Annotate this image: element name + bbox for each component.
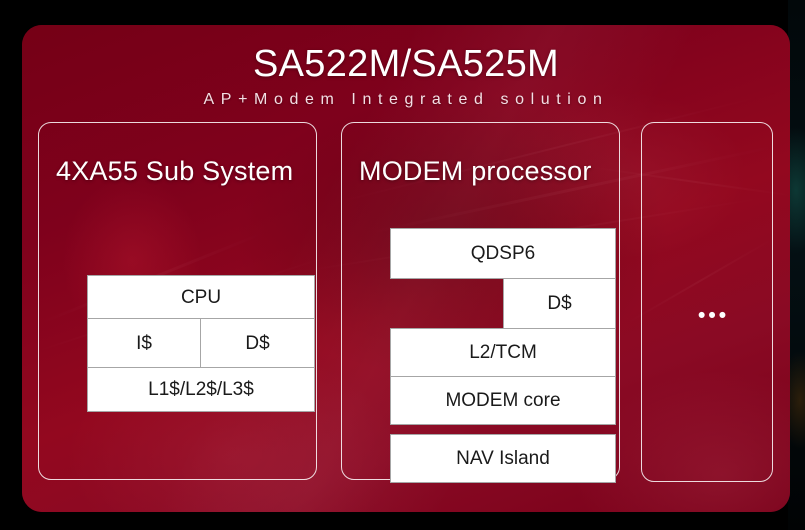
block-i-cache: I$ <box>87 318 201 368</box>
block-modem-empty <box>390 278 503 329</box>
panel-modem-processor: MODEM processor QDSP6 D$ L2/TCM MODEM co… <box>341 122 620 480</box>
panel-modem-processor-title: MODEM processor <box>359 156 592 187</box>
block-cpu: CPU <box>87 275 315 319</box>
screenshot-canvas: SA522M/SA525M AP+Modem Integrated soluti… <box>0 0 805 530</box>
block-d-cache: D$ <box>200 318 315 368</box>
panel-ap-subsystem: 4XA55 Sub System CPU I$ D$ L1$/L2$/L3$ <box>38 122 317 480</box>
panel-ap-subsystem-title: 4XA55 Sub System <box>56 156 293 187</box>
panel-more: ••• <box>641 122 773 482</box>
block-l1-l2-l3-cache: L1$/L2$/L3$ <box>87 367 315 412</box>
block-modem-d-cache: D$ <box>503 278 616 329</box>
block-nav-island: NAV Island <box>390 434 616 483</box>
ellipsis-icon: ••• <box>698 305 729 326</box>
modem-processor-diagram: QDSP6 D$ L2/TCM MODEM core NAV Island <box>390 228 616 484</box>
ap-subsystem-diagram: CPU I$ D$ L1$/L2$/L3$ <box>87 275 315 419</box>
outer-background-right <box>788 0 805 530</box>
block-qdsp6: QDSP6 <box>390 228 616 279</box>
block-l2-tcm: L2/TCM <box>390 328 616 377</box>
block-modem-core: MODEM core <box>390 376 616 425</box>
presentation-slide: SA522M/SA525M AP+Modem Integrated soluti… <box>22 25 790 512</box>
